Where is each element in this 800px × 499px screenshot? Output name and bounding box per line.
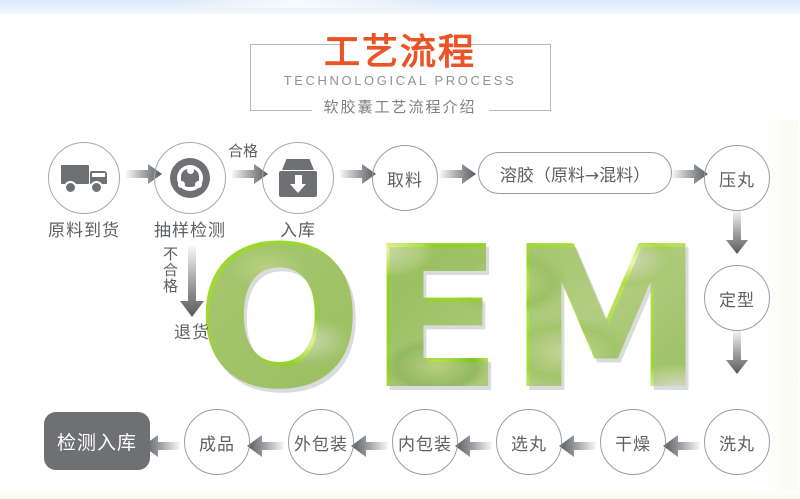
node-label-return-goods: 退货 [160, 318, 224, 343]
node-pill-pressing[interactable]: 压丸 [704, 145, 770, 211]
node-label-warehouse-in: 入库 [266, 216, 330, 241]
node-material-pickup[interactable]: 取料 [372, 145, 438, 211]
node-inner-packaging[interactable]: 内包装 [392, 409, 458, 475]
edge-label-fail: 不合格 [160, 246, 181, 310]
node-label-material-arrival: 原料到货 [36, 216, 132, 241]
node-finished-product[interactable]: 成品 [184, 409, 250, 475]
node-pill-washing[interactable]: 洗丸 [704, 409, 770, 475]
aperture-icon [170, 158, 210, 198]
process-flow-infographic: 工艺流程 TECHNOLOGICAL PROCESS 软胶囊工艺流程介绍 OEM… [0, 0, 800, 499]
node-gel-dissolving[interactable]: 溶胶（原料→混料） [478, 152, 672, 194]
node-shaping[interactable]: 定型 [704, 265, 770, 331]
node-outer-packaging[interactable]: 外包装 [288, 409, 354, 475]
node-sampling-inspection[interactable] [154, 142, 226, 214]
node-pill-selection[interactable]: 选丸 [496, 409, 562, 475]
node-material-arrival[interactable] [48, 142, 120, 214]
node-inspection-warehousing[interactable]: 检测入库 [44, 412, 150, 470]
node-warehouse-in[interactable] [262, 142, 334, 214]
node-label-sampling-inspection: 抽样检测 [142, 216, 238, 241]
truck-icon [61, 165, 107, 191]
edge-label-pass: 合格 [228, 140, 258, 161]
inbox-down-arrow-icon [278, 159, 318, 197]
node-drying[interactable]: 干燥 [600, 409, 666, 475]
